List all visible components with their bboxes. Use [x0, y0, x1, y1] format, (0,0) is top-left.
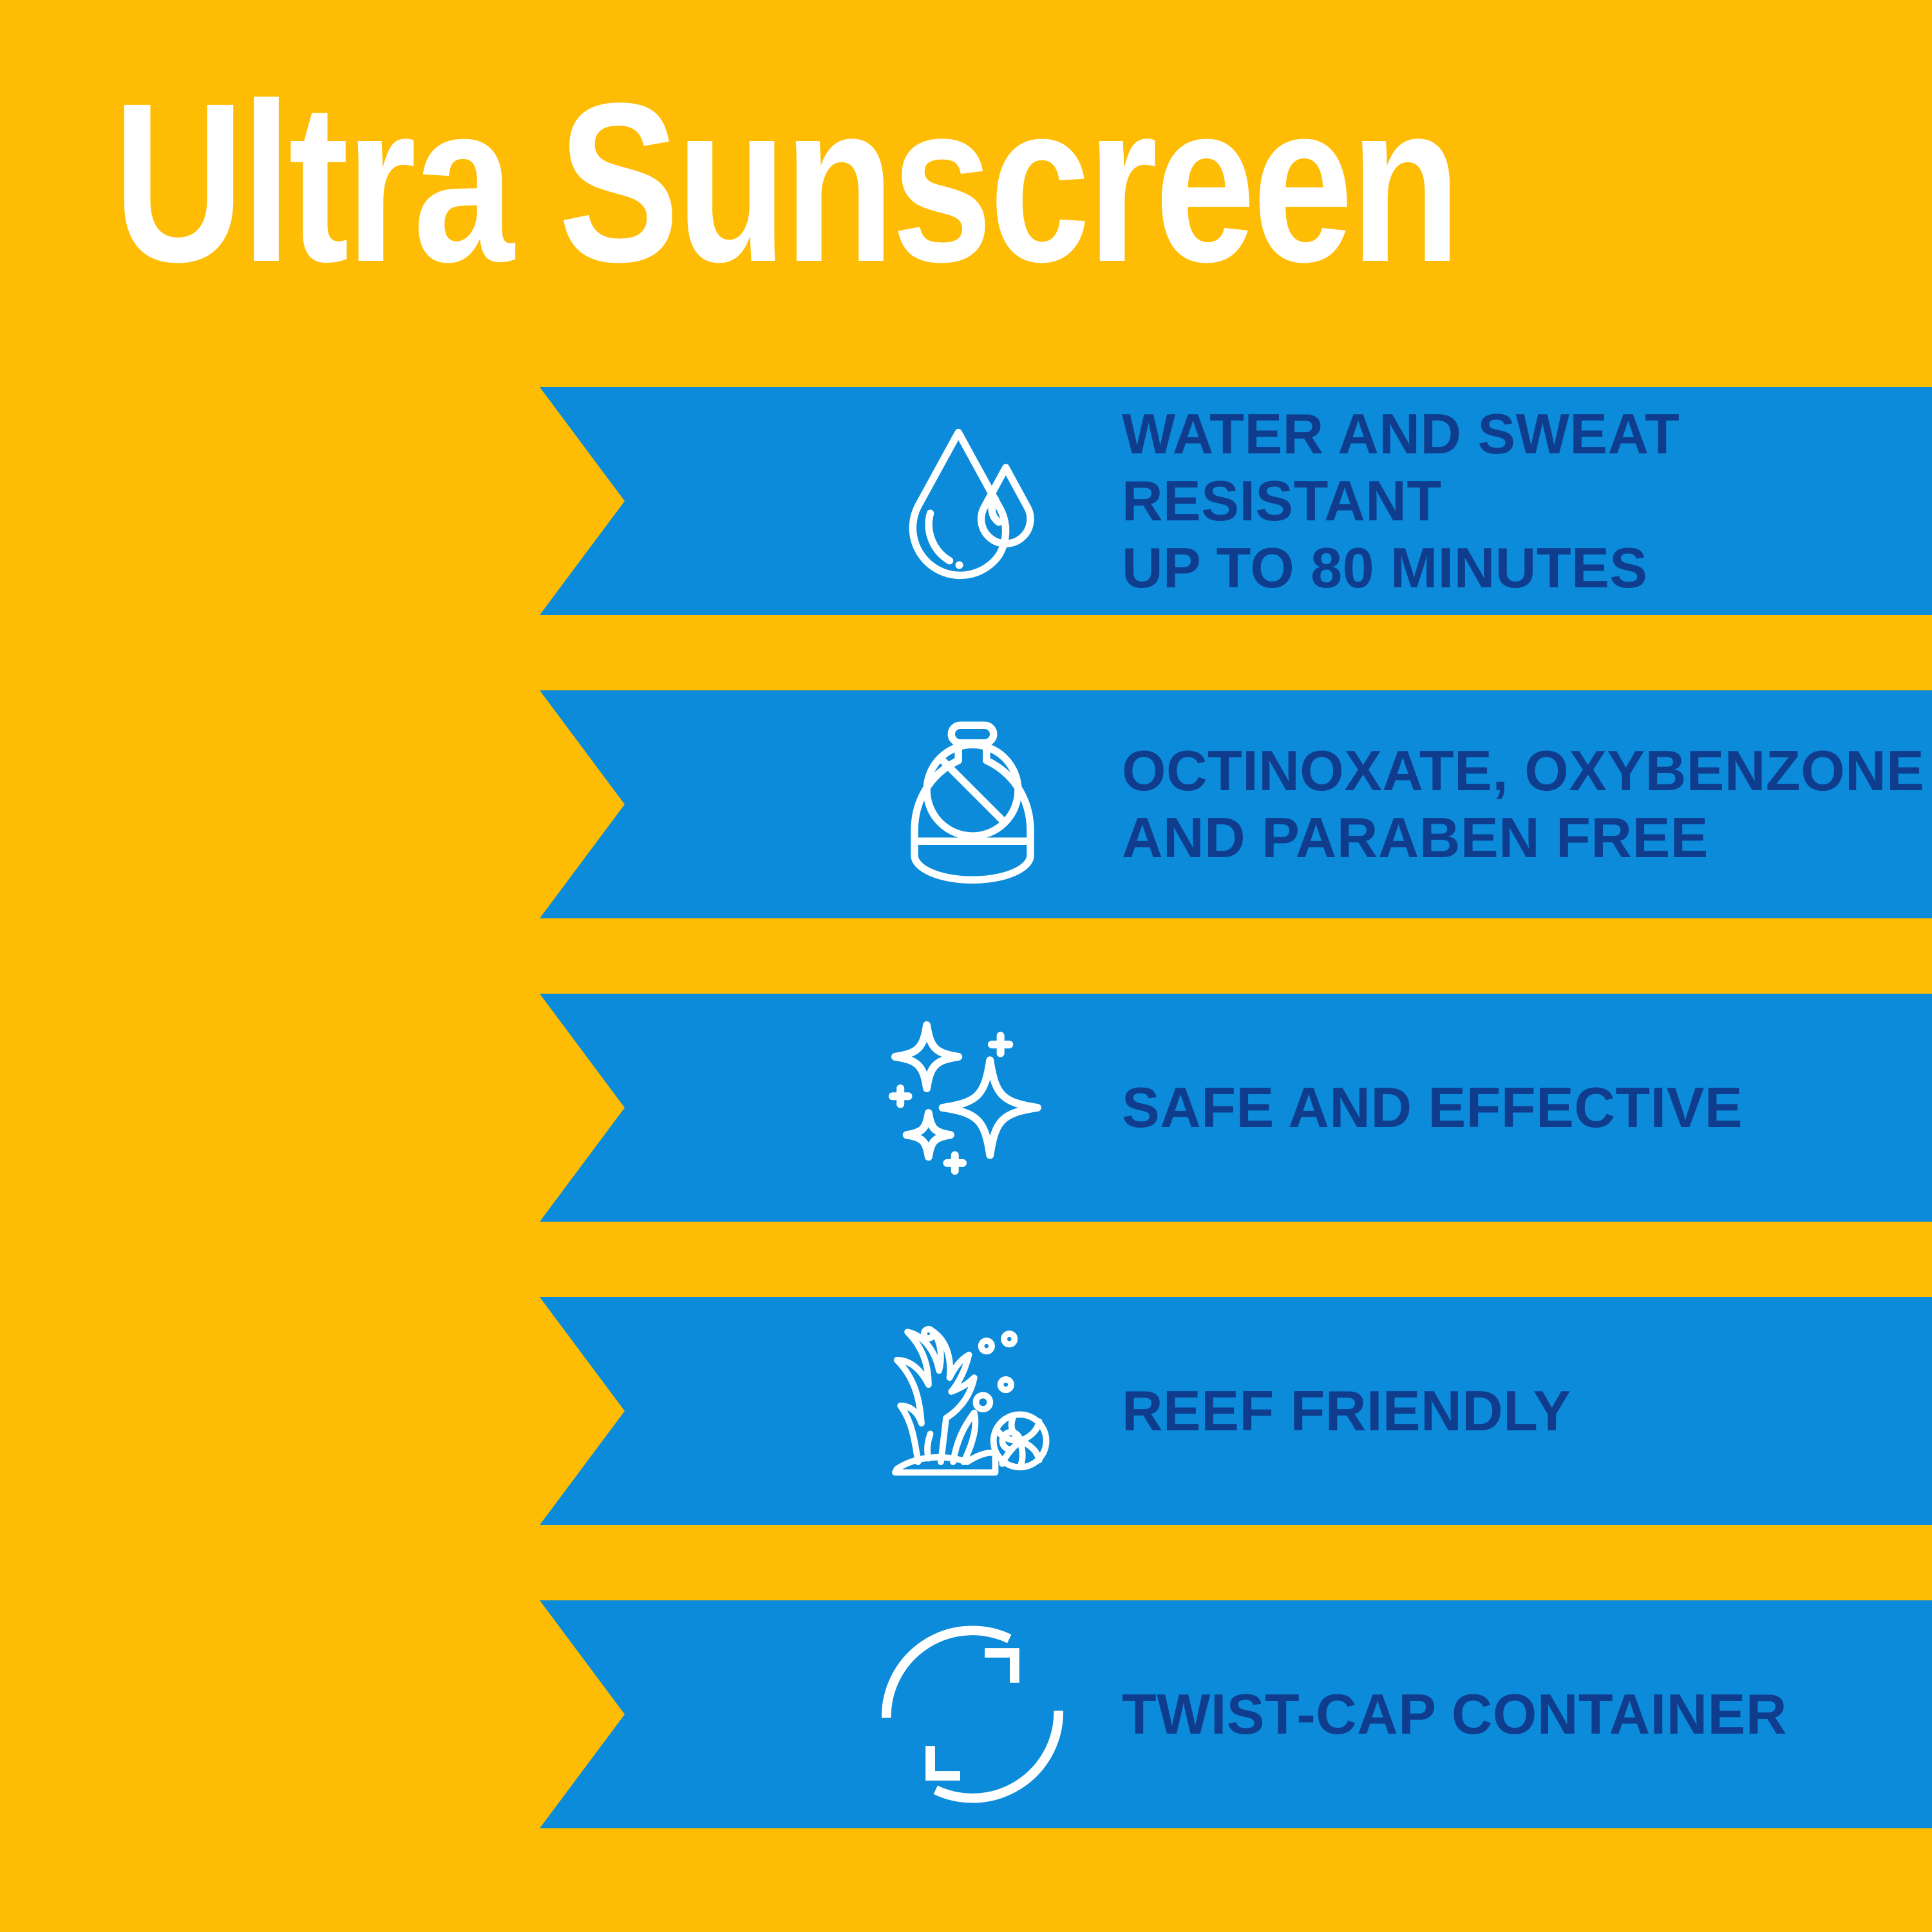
- page-title: Ultra Sunscreen: [113, 76, 1504, 289]
- no-bottle-icon: [869, 708, 1075, 901]
- feature-banner-safe-effective: SAFE AND EFFECTIVE: [0, 994, 1932, 1222]
- sunscreen-feature-poster: Ultra Sunscreen WATER AND SWEAT RESISTAN…: [0, 0, 1932, 1932]
- coral-reef-icon: [869, 1314, 1075, 1508]
- sparkle-stars-icon: [869, 1011, 1075, 1204]
- page-title-container: Ultra Sunscreen: [113, 76, 1852, 289]
- feature-banner-label: REEF FRIENDLY: [1122, 1378, 1571, 1444]
- feature-banner-label: TWIST-CAP CONTAINER: [1122, 1681, 1787, 1748]
- water-droplet-icon: [869, 404, 1075, 598]
- feature-banner-chemical-free: OCTINOXATE, OXYBENZONE AND PARABEN FREE: [0, 690, 1932, 918]
- feature-banner-twist-cap: TWIST-CAP CONTAINER: [0, 1600, 1932, 1828]
- feature-banner-label: WATER AND SWEAT RESISTANT UP TO 80 MINUT…: [1122, 401, 1932, 601]
- feature-banner-label: SAFE AND EFFECTIVE: [1122, 1074, 1743, 1141]
- feature-banner-reef-friendly: REEF FRIENDLY: [0, 1297, 1932, 1525]
- feature-banner-water-resistant: WATER AND SWEAT RESISTANT UP TO 80 MINUT…: [0, 387, 1932, 615]
- rotation-arrows-icon: [869, 1618, 1075, 1811]
- feature-banner-list: WATER AND SWEAT RESISTANT UP TO 80 MINUT…: [0, 387, 1932, 1828]
- feature-banner-label: OCTINOXATE, OXYBENZONE AND PARABEN FREE: [1122, 737, 1924, 871]
